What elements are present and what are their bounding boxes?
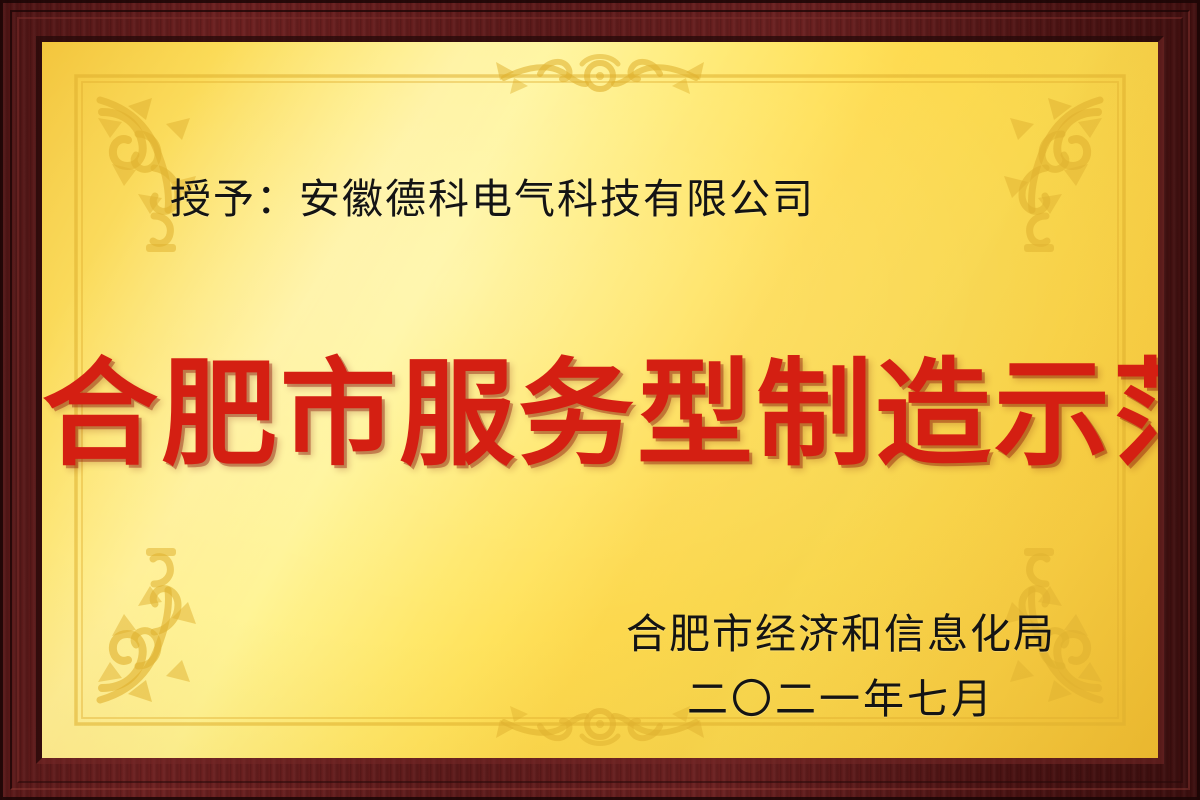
gold-panel: 授予：安徽德科电气科技有限公司 合肥市服务型制造示范企业 合肥市经济和信息化局 … — [42, 42, 1158, 758]
page-title: 合肥市服务型制造示范企业 — [42, 354, 1158, 476]
issuer-name: 合肥市经济和信息化局 — [626, 610, 1056, 658]
issue-date: 二〇二一年七月 — [626, 675, 1056, 723]
issuer-block: 合肥市经济和信息化局 二〇二一年七月 — [626, 610, 1056, 724]
recipient-line: 授予：安徽德科电气科技有限公司 — [170, 176, 815, 223]
plaque-content: 授予：安徽德科电气科技有限公司 合肥市服务型制造示范企业 合肥市经济和信息化局 … — [42, 42, 1158, 758]
award-plaque: 授予：安徽德科电气科技有限公司 合肥市服务型制造示范企业 合肥市经济和信息化局 … — [0, 0, 1200, 800]
